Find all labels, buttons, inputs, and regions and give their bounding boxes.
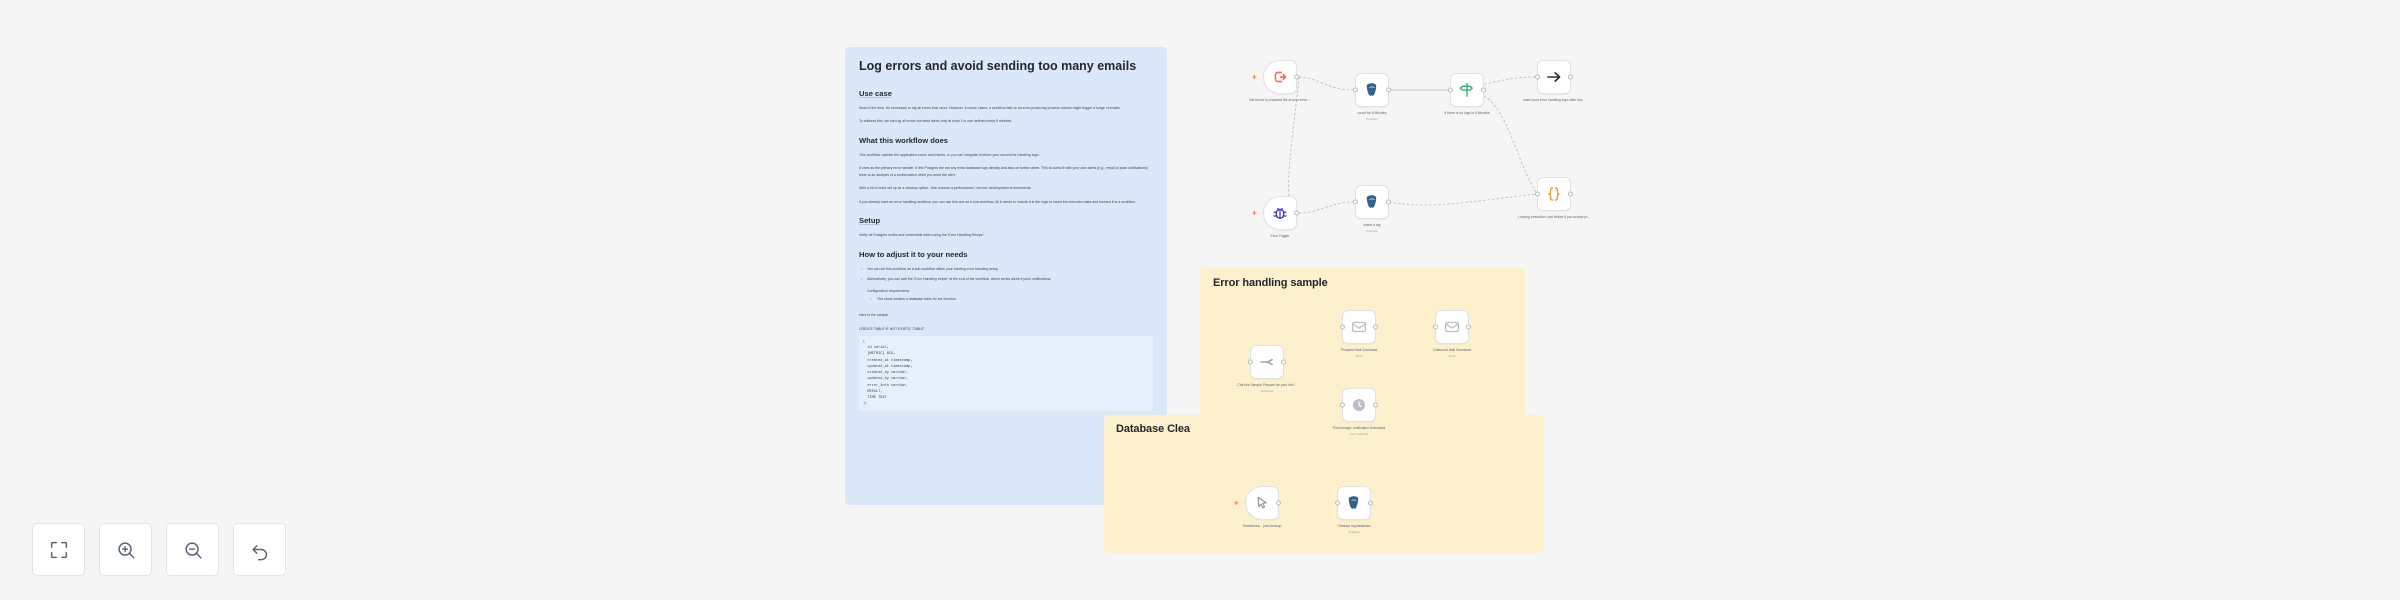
doc-paragraph: With a bit of extra set up as a cleanup …: [859, 185, 1153, 191]
node-label: Looping execution: can before if you acc…: [1506, 215, 1602, 220]
node-output-port[interactable]: [1281, 360, 1286, 365]
postgres-icon: [1345, 494, 1363, 512]
fit-screen-icon: [48, 539, 70, 561]
node-sublabel: Postgres: [1324, 117, 1420, 122]
node-input-port[interactable]: [1335, 501, 1340, 506]
bug-icon: [1271, 204, 1289, 222]
node-label: Insert a logPostgres: [1324, 223, 1420, 234]
node-sublabel: Send: [1311, 354, 1407, 359]
code-braces-icon: [1545, 185, 1563, 203]
zoom-in-button[interactable]: [99, 523, 152, 576]
node-input-port[interactable]: [1340, 325, 1345, 330]
node-input-port[interactable]: [1535, 75, 1540, 80]
node-label: Push Image: notification Downloadpush we…: [1311, 426, 1407, 437]
node-input-port[interactable]: [1448, 88, 1453, 93]
doc-code-intro: Here is the sample.: [859, 313, 1153, 317]
node-output-port[interactable]: [1373, 325, 1378, 330]
email-icon: [1443, 318, 1461, 336]
node-input-port[interactable]: [1433, 325, 1438, 330]
node-output-port[interactable]: [1368, 501, 1373, 506]
clock-icon: [1350, 396, 1368, 414]
canvas-zoom-toolbar[interactable]: [32, 523, 286, 576]
node-input-port[interactable]: [1340, 403, 1345, 408]
zoom-in-icon: [115, 539, 137, 561]
postgres-icon: [1363, 81, 1381, 99]
node-output-port[interactable]: [1294, 211, 1299, 216]
add-node-plus-icon[interactable]: +: [1252, 209, 1257, 218]
node-sublabel: Download: [1219, 389, 1315, 394]
error-note-title: Error handling sample: [1213, 277, 1328, 289]
workflow-node-if-more-logs[interactable]: If there is no logs in 5 Minutes: [1450, 73, 1484, 107]
noop-arrow-icon: [1545, 68, 1563, 86]
node-label: Set below in prepared file at your error…: [1232, 98, 1328, 103]
list-item: The cloud creates a database table for t…: [859, 296, 1153, 303]
node-sublabel: Send: [1404, 354, 1500, 359]
workflow-node-noop-insert-log[interactable]: insert your error handling logic after t…: [1537, 60, 1571, 94]
cursor-icon: [1253, 494, 1271, 512]
node-label: Outbound Mail DownloadSend: [1404, 348, 1500, 359]
zoom-out-icon: [182, 539, 204, 561]
zoom-out-button[interactable]: [166, 523, 219, 576]
doc-heading-what-it-does: What this workflow does: [859, 136, 1153, 145]
node-input-port[interactable]: [1353, 88, 1358, 93]
db-note-title: Database Clea: [1116, 423, 1190, 435]
if-icon: [1458, 81, 1476, 99]
node-output-port[interactable]: [1386, 88, 1391, 93]
email-icon: [1350, 318, 1368, 336]
workflow-node-insert-log-postgres[interactable]: Insert a logPostgres: [1355, 185, 1389, 219]
workflow-node-count-logs-postgres[interactable]: count for 5 MinutesPostgres: [1355, 73, 1389, 107]
reset-zoom-button[interactable]: [233, 523, 286, 576]
doc-sub-list: The cloud creates a database table for t…: [859, 296, 1153, 303]
workflow-node-error-workflow-trigger[interactable]: +Set below in prepared file at your erro…: [1263, 60, 1297, 94]
node-label: Error Trigger: [1232, 234, 1328, 239]
node-sublabel: push webhook: [1311, 432, 1407, 437]
node-label: Call this Sample Prepare for your info..…: [1219, 383, 1315, 394]
doc-heading-use-case: Use case: [859, 89, 1153, 98]
zoom-to-fit-button[interactable]: [32, 523, 85, 576]
clock-icon: [1350, 396, 1368, 414]
node-label: count for 5 MinutesPostgres: [1324, 111, 1420, 122]
node-output-port[interactable]: [1276, 501, 1281, 506]
branch-icon: [1258, 353, 1276, 371]
error-trigger-icon: [1271, 68, 1289, 86]
workflow-node-send-mail-2[interactable]: Outbound Mail DownloadSend: [1435, 310, 1469, 344]
postgres-icon: [1345, 494, 1363, 512]
node-input-port[interactable]: [1248, 360, 1253, 365]
doc-paragraph: Verify all Postgres nodes and credential…: [859, 232, 1153, 238]
email-icon: [1443, 318, 1461, 336]
node-label: Sometimes... just cleanup: [1214, 524, 1310, 529]
node-output-port[interactable]: [1294, 75, 1299, 80]
workflow-canvas[interactable]: Log errors and avoid sending too many em…: [0, 0, 2400, 600]
add-node-plus-icon[interactable]: +: [1234, 499, 1239, 508]
if-icon: [1458, 81, 1476, 99]
workflow-node-code-node[interactable]: Looping execution: can before if you acc…: [1537, 177, 1571, 211]
doc-code-heading: CREATE TABLE IF NOT EXISTS "TABLE": [859, 327, 1153, 331]
workflow-node-sample-branch[interactable]: Call this Sample Prepare for your info..…: [1250, 345, 1284, 379]
doc-heading-adjust: How to adjust it to your needs: [859, 250, 1153, 259]
add-node-plus-icon[interactable]: +: [1252, 73, 1257, 82]
node-sublabel: Postgres: [1306, 530, 1402, 535]
branch-icon: [1258, 353, 1276, 371]
node-output-port[interactable]: [1466, 325, 1471, 330]
workflow-node-cleanup-postgres[interactable]: Cleanup log databasePostgres: [1337, 486, 1371, 520]
list-item: You can set this workflow as a sub-workf…: [859, 266, 1153, 273]
doc-paragraph: Most of the time, it's necessary to log …: [859, 105, 1153, 111]
postgres-icon: [1363, 193, 1381, 211]
node-input-port[interactable]: [1535, 192, 1540, 197]
node-output-port[interactable]: [1568, 75, 1573, 80]
bug-icon: [1271, 204, 1289, 222]
doc-paragraph: To address this, we can log all errors b…: [859, 118, 1153, 124]
cursor-icon: [1253, 494, 1271, 512]
node-output-port[interactable]: [1568, 192, 1573, 197]
node-input-port[interactable]: [1353, 200, 1358, 205]
doc-sub-label: Configuration requirements: [859, 289, 1153, 293]
undo-arrow-icon: [249, 539, 271, 561]
doc-list: You can set this workflow as a sub-workf…: [859, 266, 1153, 283]
doc-code-block: ( id serial, [METRIC] BIG, created_at ti…: [859, 336, 1153, 411]
workflow-node-wait-node[interactable]: Push Image: notification Downloadpush we…: [1342, 388, 1376, 422]
node-label: insert your error handling logic after t…: [1506, 98, 1602, 103]
node-label: Cleanup log databasePostgres: [1306, 524, 1402, 535]
list-item: Alternatively, you can add the 'Error Ha…: [859, 276, 1153, 283]
node-output-port[interactable]: [1386, 200, 1391, 205]
postgres-icon: [1363, 193, 1381, 211]
doc-title: Log errors and avoid sending too many em…: [859, 59, 1153, 73]
workflow-node-error-trigger[interactable]: +Error Trigger: [1263, 196, 1297, 230]
doc-paragraph: It uses as the primary error handler, it…: [859, 165, 1153, 178]
postgres-icon: [1363, 81, 1381, 99]
noop-arrow-icon: [1545, 68, 1563, 86]
email-icon: [1350, 318, 1368, 336]
node-sublabel: Postgres: [1324, 229, 1420, 234]
error-trigger-icon: [1271, 68, 1289, 86]
doc-heading-setup: Setup: [859, 216, 1153, 225]
code-braces-icon: [1545, 185, 1563, 203]
workflow-node-manual-trigger[interactable]: +Sometimes... just cleanup: [1245, 486, 1279, 520]
node-label: Prospect Mail DownloadSend: [1311, 348, 1407, 359]
workflow-node-send-mail-1[interactable]: Prospect Mail DownloadSend: [1342, 310, 1376, 344]
doc-paragraph: If you already have an error handling wo…: [859, 199, 1153, 205]
doc-paragraph: This workflow catches the application er…: [859, 152, 1153, 158]
node-label: If there is no logs in 5 Minutes: [1419, 111, 1515, 116]
node-output-port[interactable]: [1373, 403, 1378, 408]
node-output-port[interactable]: [1481, 88, 1486, 93]
